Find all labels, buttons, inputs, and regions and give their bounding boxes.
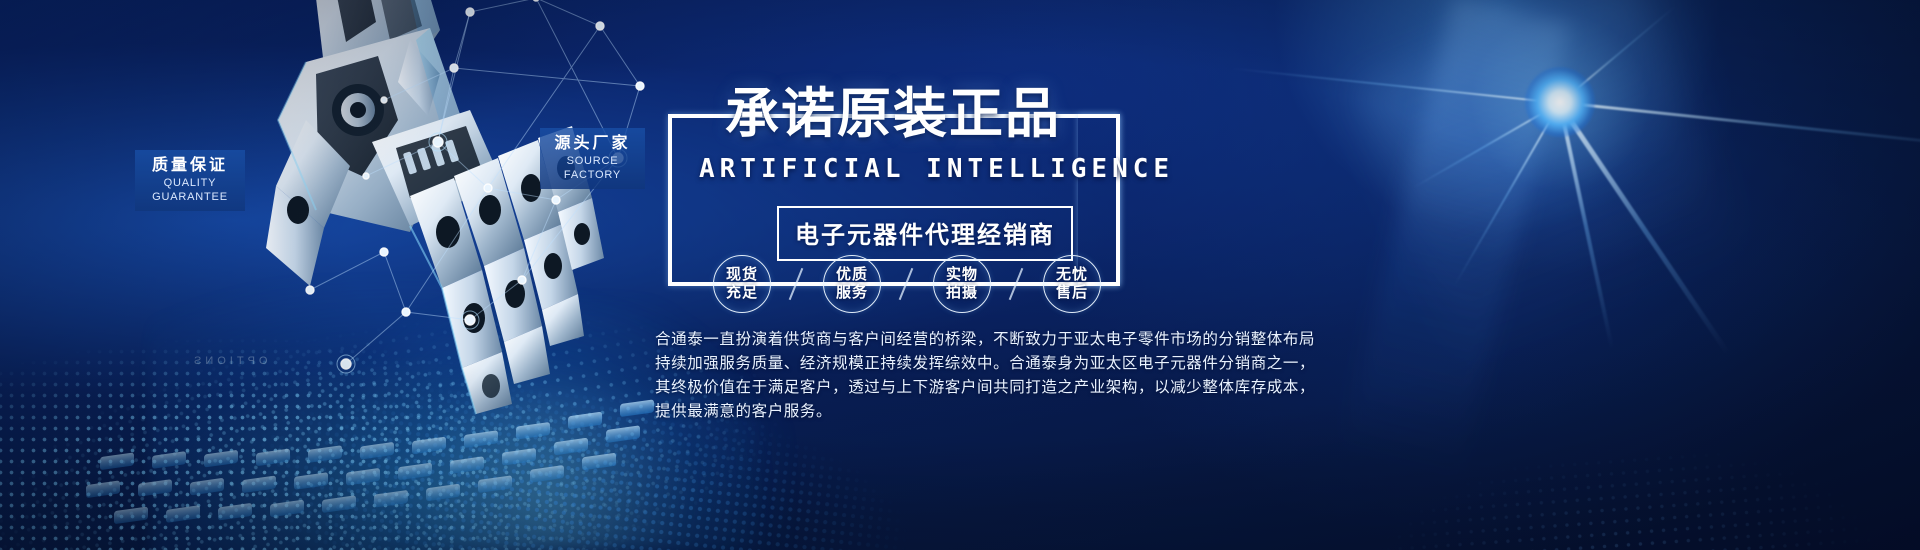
tag-quality-cn: 质量保证 [149, 156, 231, 176]
badge-in-stock-line1: 现货 [726, 266, 758, 284]
tag-quality-guarantee: 质量保证 QUALITY GUARANTEE [135, 150, 245, 211]
headline: 承诺原装正品 [725, 84, 1061, 144]
badge-in-stock-line2: 充足 [726, 284, 758, 302]
badge-after-sales-line2: 售后 [1056, 284, 1088, 302]
badge-after-sales-line1: 无忧 [1056, 266, 1088, 284]
badge-quality-service-line2: 服务 [836, 284, 868, 302]
badge-real-photo-line2: 拍摄 [946, 284, 978, 302]
description-line-4: 提供最满意的客户服务。 [655, 400, 1335, 424]
banner-content: 承诺原装正品 ARTIFICIAL INTELLIGENCE 电子元器件代理经销… [655, 60, 1345, 490]
badge-in-stock: 现货 充足 [713, 255, 771, 313]
hero-banner: OPTIONS [0, 0, 1920, 550]
feature-badge-list: 现货 充足 优质 服务 实物 拍摄 无忧 售后 [713, 255, 1101, 313]
description-line-3: 其终极价值在于满足客户，透过与上下游客户间共同打造之产业架构，以减少整体库存成本… [655, 376, 1335, 400]
subheadline-english: ARTIFICIAL INTELLIGENCE [699, 154, 1174, 184]
description-paragraph: 合通泰一直扮演着供货商与客户间经营的桥梁，不断致力于亚太电子零件市场的分销整体布… [655, 328, 1335, 424]
badge-separator-3 [1003, 267, 1031, 301]
description-line-2: 持续加强服务质量、经济规模正持续发挥综效中。合通泰身为亚太区电子元器件分销商之一… [655, 352, 1335, 376]
badge-real-photo-line1: 实物 [946, 266, 978, 284]
tag-source-factory: 源头厂家 SOURCE FACTORY [540, 128, 645, 189]
tag-source-cn: 源头厂家 [554, 134, 631, 154]
tag-quality-en: QUALITY GUARANTEE [149, 176, 231, 204]
badge-separator-1 [783, 267, 811, 301]
tag-source-en: SOURCE FACTORY [554, 154, 631, 182]
badge-separator-2 [893, 267, 921, 301]
badge-real-photo: 实物 拍摄 [933, 255, 991, 313]
badge-quality-service: 优质 服务 [823, 255, 881, 313]
badge-quality-service-line1: 优质 [836, 266, 868, 284]
boxed-subtitle: 电子元器件代理经销商 [777, 206, 1073, 261]
description-line-1: 合通泰一直扮演着供货商与客户间经营的桥梁，不断致力于亚太电子零件市场的分销整体布… [655, 328, 1335, 352]
badge-after-sales: 无忧 售后 [1043, 255, 1101, 313]
